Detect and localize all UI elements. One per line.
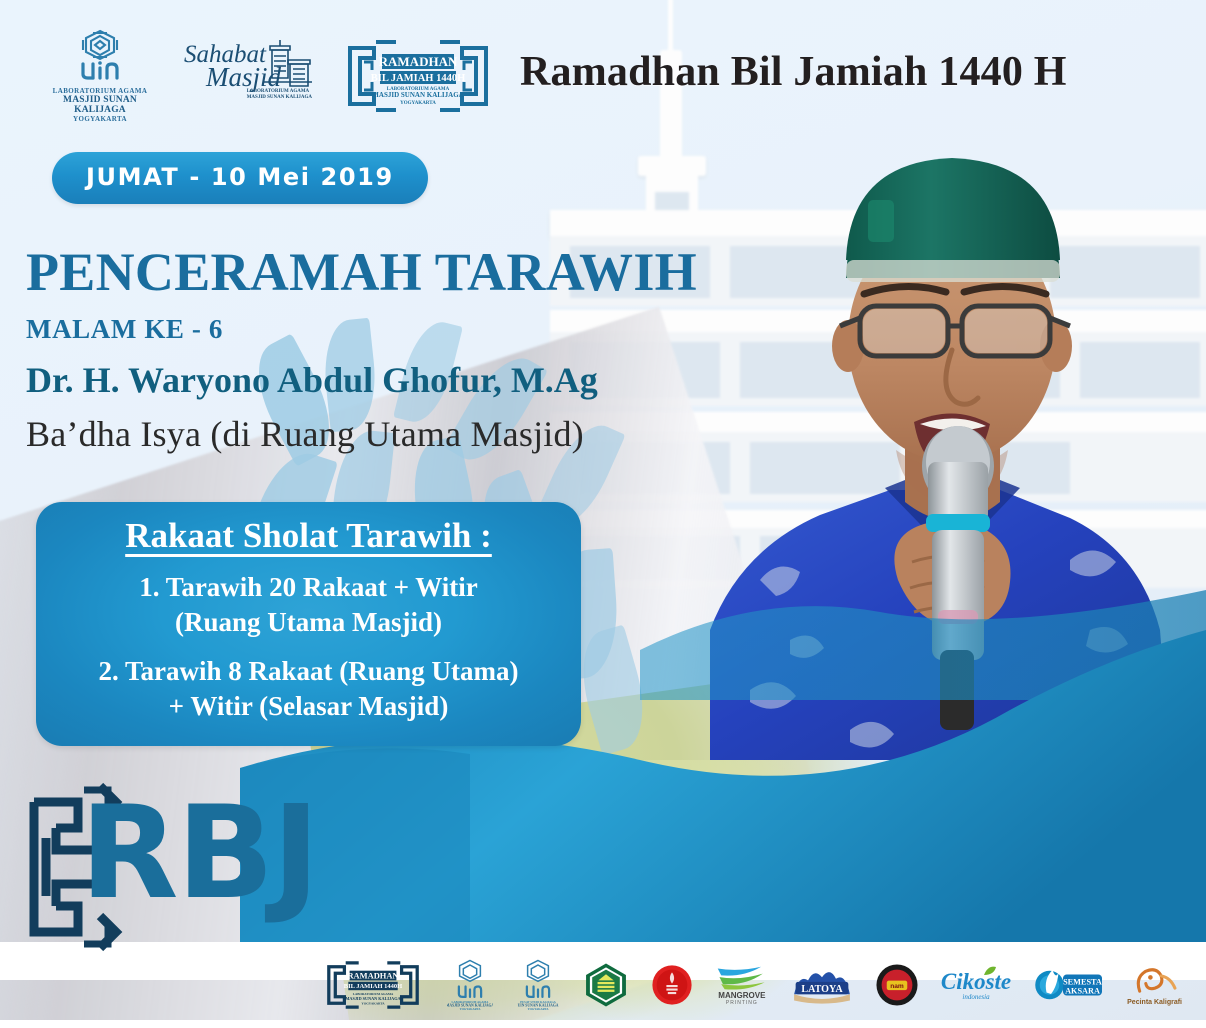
header-logo-group: LABORATORIUM AGAMA MASJID SUNAN KALIJAGA… <box>40 28 498 123</box>
ramadhan-bil-jamiah-logo: RAMADHAN BIL JAMIAH 1440H LABORATORIUM A… <box>338 36 498 116</box>
time-and-place: Ba’dha Isya (di Ruang Utama Masjid) <box>26 413 796 455</box>
semesta-label: SEMESTA <box>1063 977 1102 986</box>
sponsor-latoya: LATOYA <box>791 963 853 1007</box>
svg-text:YOGYAKARTA: YOGYAKARTA <box>527 1007 549 1011</box>
page-title: Ramadhan Bil Jamiah 1440 H <box>520 48 1067 96</box>
mangrove-label: MANGROVE <box>718 991 765 1000</box>
mangrove-sublabel: PRINTING <box>726 1000 758 1006</box>
sahabat-sublabel: LABORATORIUM AGAMA MASJID SUNAN KALIJAGA <box>247 89 312 102</box>
sponsor-mangrove-printing: MANGROVE PRINTING <box>715 965 769 1006</box>
rakaat-item-1: 1. Tarawih 20 Rakaat + Witir (Ruang Utam… <box>54 570 563 640</box>
pecinta-kaligrafi-label: Pecinta Kaligrafi <box>1127 999 1182 1006</box>
sponsor-semesta-aksara: SEMESTA AKSARA <box>1033 963 1105 1007</box>
logo-line-3: YOGYAKARTA <box>40 115 160 123</box>
rakaat-item-2-line-1: 2. Tarawih 8 Rakaat (Ruang Utama) <box>54 654 563 689</box>
aksara-label: AKSARA <box>1065 986 1100 995</box>
uin-masjid-sunan-kalijaga-logo: LABORATORIUM AGAMA MASJID SUNAN KALIJAGA… <box>40 28 160 123</box>
rbj-wordmark: RBJ <box>80 790 318 918</box>
sponsor-uin-sunan-kalijaga-seal <box>583 962 629 1008</box>
svg-text:YOGYAKARTA: YOGYAKARTA <box>361 1002 385 1006</box>
logo-line-2: MASJID SUNAN KALIJAGA <box>40 95 160 115</box>
rakaat-item-1-line-2: (Ruang Utama Masjid) <box>54 605 563 640</box>
rbj-logo-line4: MASJID SUNAN KALIJAGA <box>372 91 463 99</box>
nam-label: nam <box>890 983 904 990</box>
rakaat-item-2-line-2: + Witir (Selasar Masjid) <box>54 689 563 724</box>
masjid-ornament-icon <box>69 28 131 82</box>
bottom-white-strip <box>0 1020 1206 1028</box>
svg-text:LABORATORIUM AGAMA: LABORATORIUM AGAMA <box>353 992 394 996</box>
rbj-logo-line5: YOGYAKARTA <box>400 101 436 106</box>
sponsor-nam: nam <box>875 963 919 1007</box>
rbj-logo-line2: BIL JAMIAH 1440H <box>371 73 466 84</box>
svg-text:BIL JAMIAH 1440H: BIL JAMIAH 1440H <box>344 983 403 990</box>
logo-line-1: LABORATORIUM AGAMA <box>40 87 160 95</box>
sponsor-cikoste: Cikoste indonesia <box>941 970 1011 1001</box>
sponsor-ramadhan-bil-jamiah: RAMADHAN BIL JAMIAH 1440H LABORATORIUM A… <box>321 958 425 1012</box>
speaker-name: Dr. H. Waryono Abdul Ghofur, M.Ag <box>26 359 796 401</box>
rbj-logo-line1: RAMADHAN <box>379 54 458 69</box>
rakaat-item-1-line-1: 1. Tarawih 20 Rakaat + Witir <box>54 570 563 605</box>
svg-text:RAMADHAN: RAMADHAN <box>347 971 398 981</box>
svg-text:MASJID SUNAN KALIJAGA: MASJID SUNAN KALIJAGA <box>345 996 401 1001</box>
headline-block: PENCERAMAH TARAWIH MALAM KE - 6 Dr. H. W… <box>26 244 796 455</box>
cikoste-sublabel: indonesia <box>962 993 989 1001</box>
kaligrafi-pen-icon <box>1132 965 1178 999</box>
date-badge: JUMAT - 10 Mei 2019 <box>52 152 428 204</box>
sponsor-red-seal <box>651 964 693 1006</box>
rakaat-title: Rakaat Sholat Tarawih : <box>54 516 563 556</box>
latoya-label: LATOYA <box>801 984 843 995</box>
sponsor-pecinta-kaligrafi: Pecinta Kaligrafi <box>1127 965 1182 1006</box>
cikoste-leaf-icon <box>983 966 997 976</box>
headline-subtitle: MALAM KE - 6 <box>26 314 796 345</box>
sahabat-sub2: MASJID SUNAN KALIJAGA <box>247 95 312 100</box>
rakaat-item-2: 2. Tarawih 8 Rakaat (Ruang Utama) + Witi… <box>54 654 563 724</box>
svg-text:YOGYAKARTA: YOGYAKARTA <box>459 1007 481 1011</box>
rakaat-info-box: Rakaat Sholat Tarawih : 1. Tarawih 20 Ra… <box>36 502 581 746</box>
cikoste-label: Cikoste <box>941 969 1011 994</box>
poster-canvas: LABORATORIUM AGAMA MASJID SUNAN KALIJAGA… <box>0 0 1206 1028</box>
sahabat-sub1: LABORATORIUM AGAMA <box>247 89 309 94</box>
headline-title: PENCERAMAH TARAWIH <box>26 244 796 300</box>
sponsor-masjid-sunan-kalijaga: LABORATORIUM AGAMA MASJID SUNAN KALIJAGA… <box>447 958 493 1012</box>
sahabat-masjid-logo: Sahabat Masjid LABORATORIUM AGAMA MASJID… <box>184 36 314 116</box>
sponsor-logo-strip: RAMADHAN BIL JAMIAH 1440H LABORATORIUM A… <box>0 942 1206 1028</box>
rbj-brand-mark: RBJ <box>8 768 408 958</box>
sponsor-pusat-studi-kalijaga: PUSAT STUDI KALIJAGA UIN SUNAN KALIJAGA … <box>515 958 561 1012</box>
